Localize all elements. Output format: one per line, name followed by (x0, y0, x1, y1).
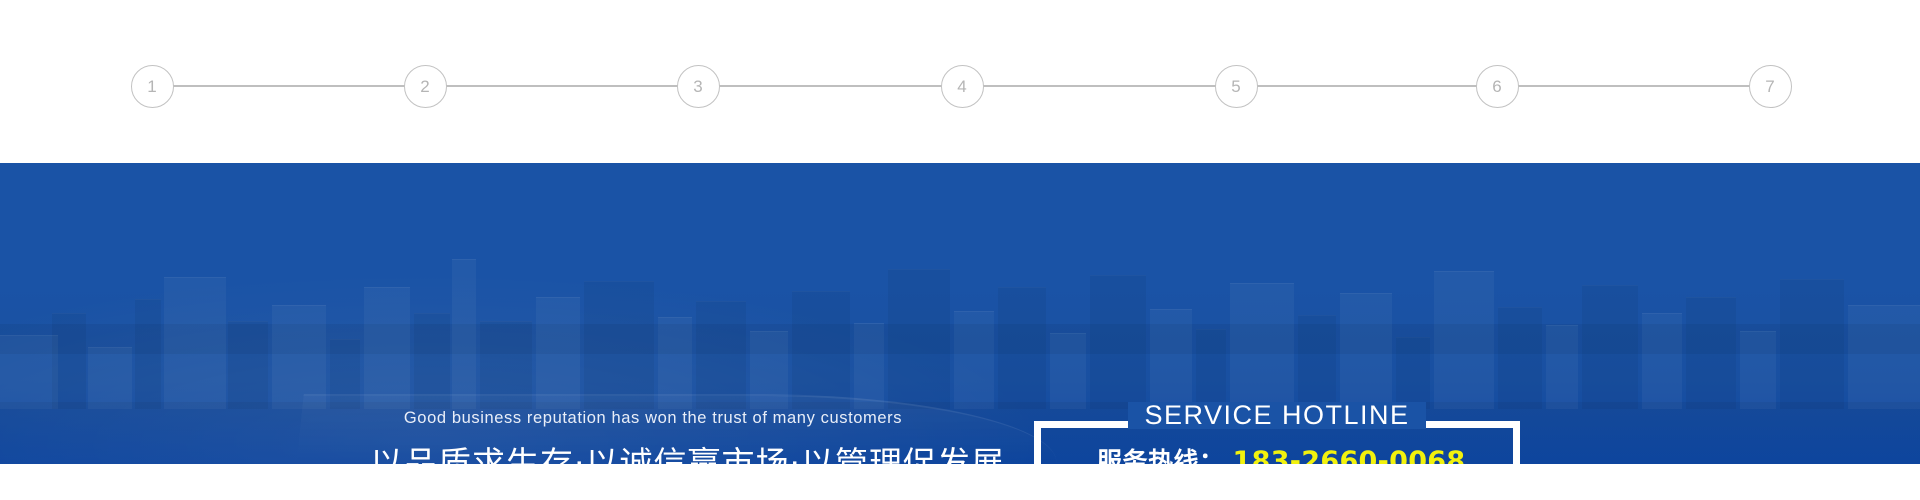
treeline (0, 324, 1920, 354)
hotline-rows: 服务热线： 183-2660-0068 服务热线： 0551-63749777 (1041, 447, 1513, 464)
step-circle-3[interactable]: 3 (677, 65, 720, 108)
step-circle-4[interactable]: 4 (941, 65, 984, 108)
footer-whitespace (0, 464, 1920, 500)
step-number-2: 2 (420, 78, 429, 95)
step-number-5: 5 (1231, 78, 1240, 95)
slogan-block: Good business reputation has won the tru… (370, 409, 936, 464)
page-root: 1 2 3 4 5 6 7 (0, 0, 1920, 500)
step-progress-bar: 1 2 3 4 5 6 7 (0, 0, 1920, 163)
slogan-chinese-main: 以品质求生存·以诚信赢市场·以管理促发展 (370, 443, 936, 464)
hotline-title-wrap: SERVICE HOTLINE (1034, 402, 1520, 429)
step-circle-2[interactable]: 2 (404, 65, 447, 108)
city-skyline-illustration (0, 219, 1920, 409)
hotline-label: 服务热线： (1097, 448, 1225, 464)
step-number-3: 3 (693, 78, 702, 95)
hotline-phone-primary[interactable]: 183-2660-0068 (1233, 447, 1466, 464)
service-hotline-box: SERVICE HOTLINE 服务热线： 183-2660-0068 服务热线… (1034, 414, 1520, 464)
step-number-4: 4 (957, 78, 966, 95)
hotline-row-primary: 服务热线： 183-2660-0068 (1041, 447, 1513, 464)
slogan-english: Good business reputation has won the tru… (370, 409, 936, 429)
promo-banner: Good business reputation has won the tru… (0, 163, 1920, 464)
step-circle-5[interactable]: 5 (1215, 65, 1258, 108)
step-circle-1[interactable]: 1 (131, 65, 174, 108)
step-circle-7[interactable]: 7 (1749, 65, 1792, 108)
step-number-1: 1 (147, 78, 156, 95)
hotline-title: SERVICE HOTLINE (1128, 402, 1425, 429)
step-number-6: 6 (1492, 78, 1501, 95)
step-number-7: 7 (1765, 78, 1774, 95)
step-circle-6[interactable]: 6 (1476, 65, 1519, 108)
